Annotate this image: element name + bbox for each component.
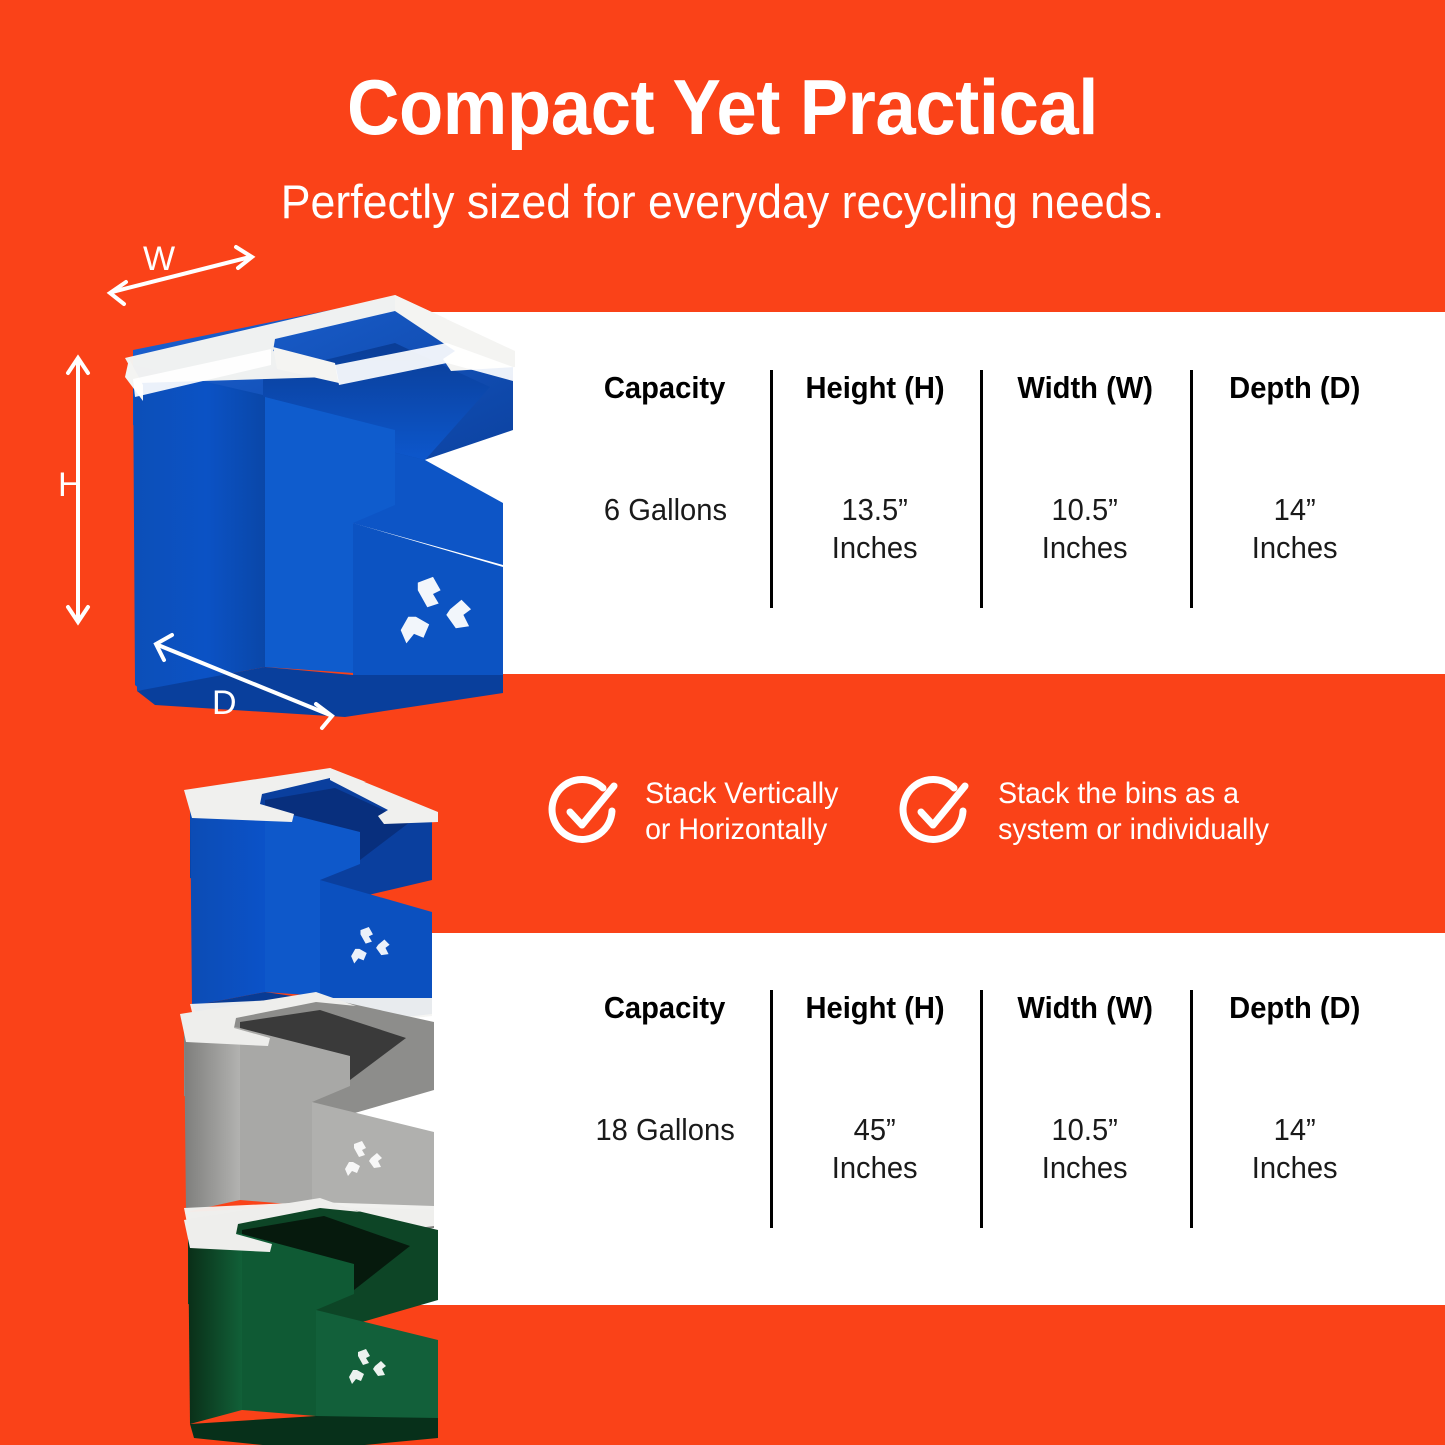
dimension-label-height: H bbox=[58, 466, 83, 505]
feature-label: Stack the bins as a system or individual… bbox=[999, 776, 1270, 848]
spec-column-height: Height (H) 45” Inches bbox=[770, 972, 980, 1232]
dimension-label-depth: D bbox=[212, 684, 237, 723]
spec-column-depth: Depth (D) 14” Inches bbox=[1190, 352, 1400, 612]
feature-list: Stack Vertically or Horizontally Stack t… bbox=[548, 762, 1408, 862]
check-circle-icon bbox=[899, 775, 973, 849]
spec-column-width: Width (W) 10.5” Inches bbox=[980, 352, 1190, 612]
spec-header: Width (W) bbox=[1017, 990, 1153, 1026]
spec-value: 14” Inches bbox=[1252, 491, 1338, 567]
feature-item: Stack Vertically or Horizontally bbox=[548, 762, 843, 862]
page-subtitle: Perfectly sized for everyday recycling n… bbox=[36, 178, 1409, 225]
page-title: Compact Yet Practical bbox=[51, 68, 1395, 146]
spec-table-single-bin: Capacity 6 Gallons Height (H) 13.5” Inch… bbox=[560, 352, 1400, 612]
spec-header: Capacity bbox=[604, 370, 725, 406]
spec-value: 10.5” Inches bbox=[1042, 1111, 1128, 1187]
stacked-bin-blue bbox=[184, 768, 438, 1030]
spec-value: 13.5” Inches bbox=[832, 491, 918, 567]
spec-value: 10.5” Inches bbox=[1042, 491, 1128, 567]
header: Compact Yet Practical Perfectly sized fo… bbox=[0, 0, 1445, 225]
dimension-arrows bbox=[40, 230, 460, 750]
feature-label: Stack Vertically or Horizontally bbox=[645, 776, 838, 848]
stacked-bins-image bbox=[170, 760, 530, 1445]
spec-column-capacity: Capacity 6 Gallons bbox=[560, 352, 770, 612]
spec-header: Depth (D) bbox=[1229, 370, 1360, 406]
check-circle-icon bbox=[548, 775, 622, 849]
spec-value: 14” Inches bbox=[1252, 1111, 1338, 1187]
feature-item: Stack the bins as a system or individual… bbox=[899, 762, 1276, 862]
spec-header: Depth (D) bbox=[1229, 990, 1360, 1026]
stacked-bin-green bbox=[184, 1198, 438, 1445]
spec-column-height: Height (H) 13.5” Inches bbox=[770, 352, 980, 612]
infographic-page: Compact Yet Practical Perfectly sized fo… bbox=[0, 0, 1445, 1445]
spec-value: 6 Gallons bbox=[603, 491, 726, 529]
dimension-label-width: W bbox=[143, 240, 175, 279]
spec-table-stacked-bins: Capacity 18 Gallons Height (H) 45” Inche… bbox=[560, 972, 1400, 1232]
spec-column-capacity: Capacity 18 Gallons bbox=[560, 972, 770, 1232]
spec-header: Height (H) bbox=[805, 990, 944, 1026]
spec-header: Capacity bbox=[604, 990, 725, 1026]
spec-value: 18 Gallons bbox=[595, 1111, 734, 1149]
spec-column-width: Width (W) 10.5” Inches bbox=[980, 972, 1190, 1232]
spec-value: 45” Inches bbox=[832, 1111, 918, 1187]
spec-column-depth: Depth (D) 14” Inches bbox=[1190, 972, 1400, 1232]
spec-header: Width (W) bbox=[1017, 370, 1153, 406]
spec-header: Height (H) bbox=[805, 370, 944, 406]
